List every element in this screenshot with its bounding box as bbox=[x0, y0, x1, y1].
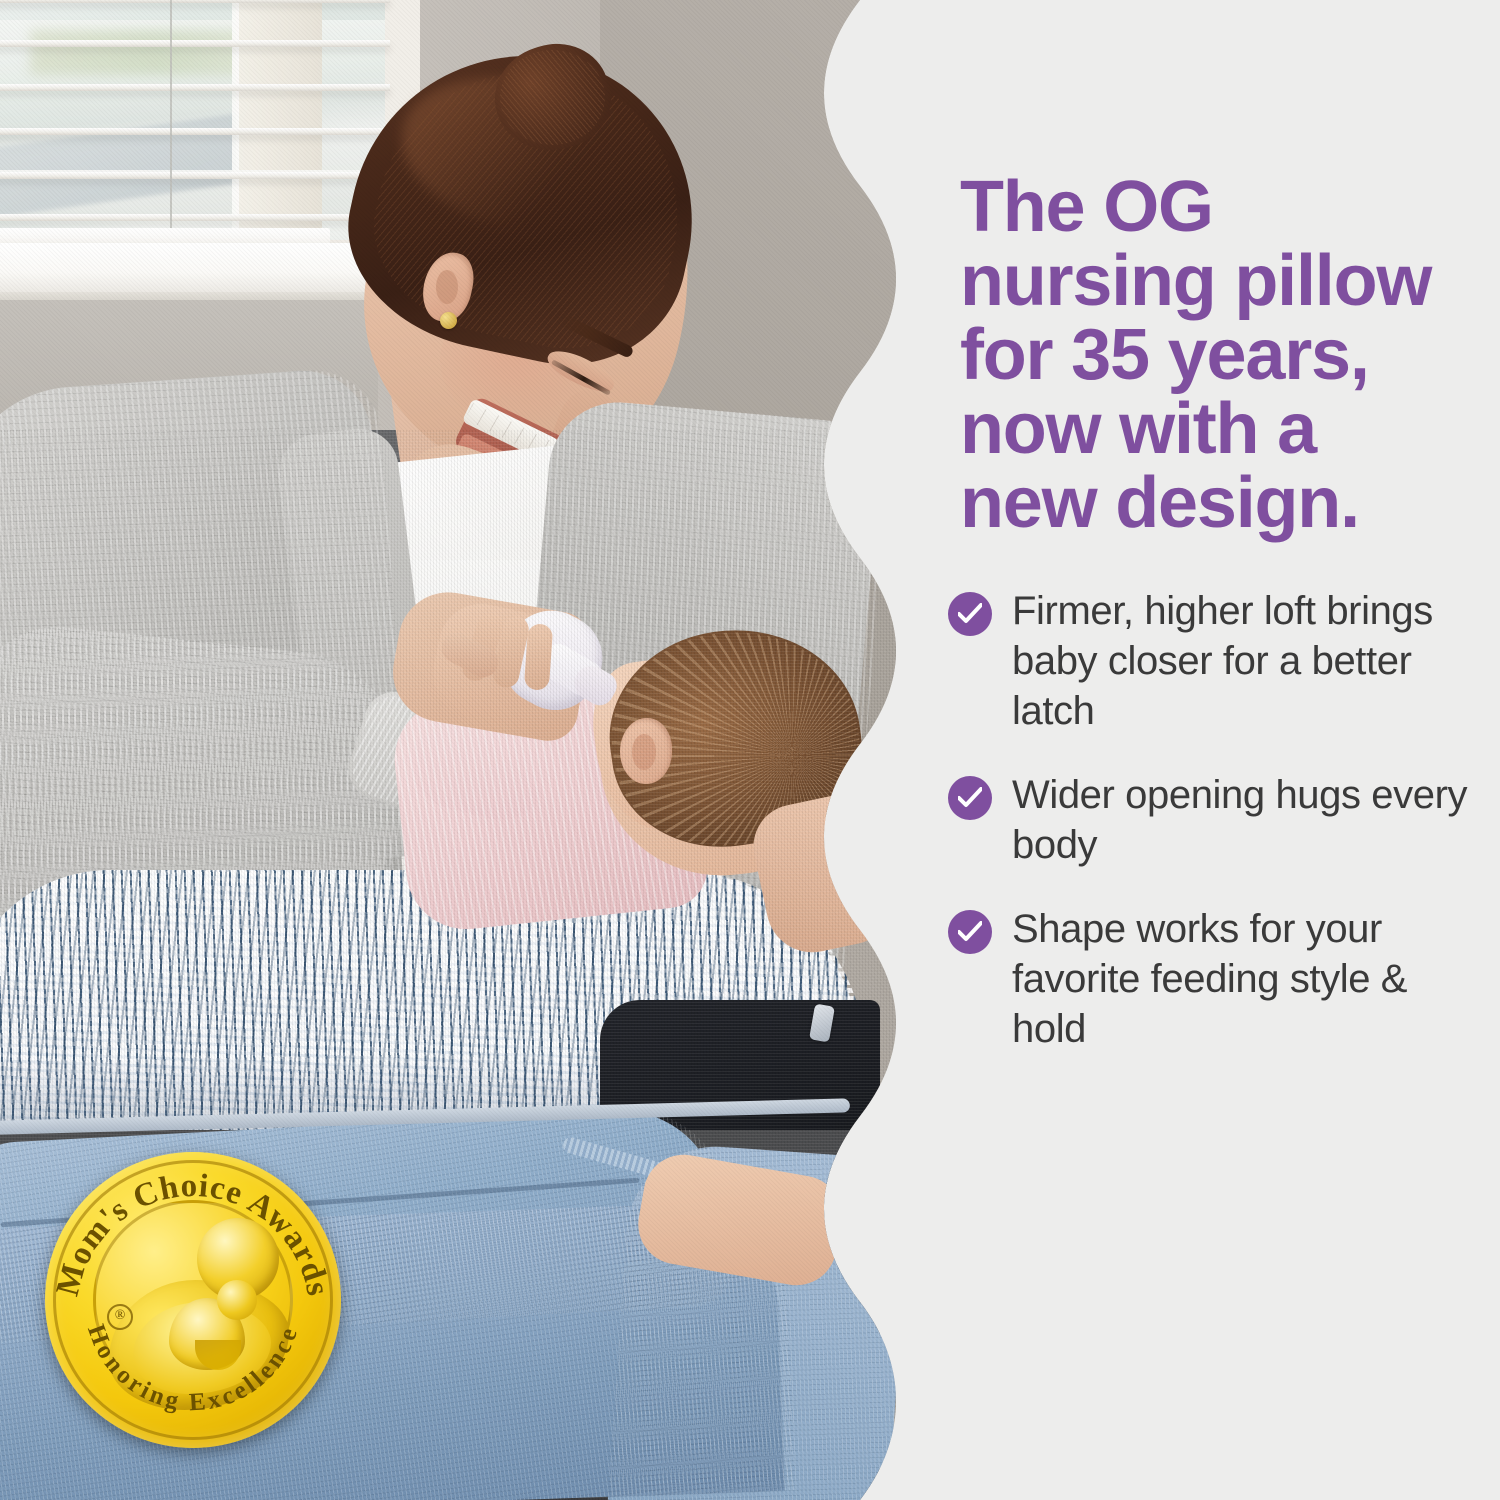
content-panel: The OG nursing pillow for 35 years, now … bbox=[900, 0, 1500, 1500]
headline-line: for 35 years, bbox=[960, 315, 1369, 395]
headline-line: The OG bbox=[960, 167, 1213, 247]
svg-text:Mom's Choice Awards: Mom's Choice Awards bbox=[50, 1168, 336, 1300]
badge-top-text: Mom's Choice Awards bbox=[50, 1168, 336, 1300]
feature-list: Firmer, higher loft brings baby closer f… bbox=[948, 586, 1488, 1088]
svg-text:Honoring Excellence: Honoring Excellence bbox=[82, 1321, 304, 1416]
check-circle-icon bbox=[948, 592, 992, 636]
list-item: Shape works for your favorite feeding st… bbox=[948, 904, 1488, 1054]
list-item: Firmer, higher loft brings baby closer f… bbox=[948, 586, 1488, 736]
feature-text: Shape works for your favorite feeding st… bbox=[1012, 904, 1488, 1054]
list-item: Wider opening hugs every body bbox=[948, 770, 1488, 870]
page-title: The OG nursing pillow for 35 years, now … bbox=[960, 170, 1480, 540]
badge-bottom-text: Honoring Excellence bbox=[82, 1321, 304, 1416]
check-circle-icon bbox=[948, 910, 992, 954]
check-circle-icon bbox=[948, 776, 992, 820]
headline-line: new design. bbox=[960, 463, 1359, 543]
feature-text: Firmer, higher loft brings baby closer f… bbox=[1012, 586, 1488, 736]
moms-choice-awards-badge: ® Mom's Choice Awards Honoring Excellenc… bbox=[45, 1152, 341, 1448]
feature-text: Wider opening hugs every body bbox=[1012, 770, 1488, 870]
headline-line: nursing pillow bbox=[960, 241, 1431, 321]
product-feature-card: ® Mom's Choice Awards Honoring Excellenc… bbox=[0, 0, 1500, 1500]
headline-line: now with a bbox=[960, 389, 1316, 469]
